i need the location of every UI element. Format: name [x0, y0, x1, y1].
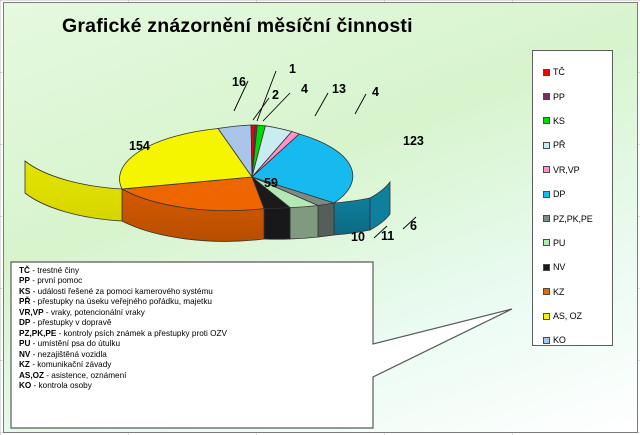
description-code: KS — [19, 287, 30, 296]
legend-item-as-oz[interactable]: AS, OZ — [543, 304, 612, 328]
pie-data-label-pu: 11 — [381, 230, 394, 243]
pie-data-label-ks: 4 — [301, 83, 308, 96]
description-line: DP - přestupky v dopravě — [19, 318, 349, 328]
pie-data-label-kz: 59 — [264, 177, 278, 190]
description-code: VR,VP — [19, 308, 44, 317]
pie-data-label-ko: 16 — [232, 76, 246, 89]
legend-item-label: PŘ — [553, 140, 565, 150]
legend-item-pz-pk-pe[interactable]: PZ,PK,PE — [543, 206, 612, 230]
legend-item-label: PZ,PK,PE — [553, 214, 593, 224]
legend-item-label: PP — [553, 92, 565, 102]
description-line: NV - nezajištěná vozidla — [19, 350, 349, 360]
description-text: - asistence, oznámení — [44, 371, 126, 380]
legend-swatch-icon — [543, 264, 550, 271]
leader-pr — [315, 93, 328, 116]
pie-data-label-tc: 2 — [272, 89, 279, 102]
legend-item-label: AS, OZ — [553, 311, 582, 321]
description-text: - události řešené za pomoci kamerového s… — [30, 287, 212, 296]
pie-data-label-pr: 13 — [332, 83, 346, 96]
pie-chart[interactable]: 16 2 1 4 13 4 123 6 11 10 59 154 — [12, 51, 482, 266]
pie-data-label-dp: 123 — [403, 135, 424, 148]
pie-side-nv — [264, 207, 290, 239]
description-code: TČ — [19, 266, 30, 275]
legend-item-vr-vp[interactable]: VR,VP — [543, 158, 612, 182]
pie-side-dp2 — [370, 182, 390, 230]
legend-item-kz[interactable]: KZ — [543, 280, 612, 304]
legend-swatch-icon — [543, 166, 550, 173]
description-text: - přestupky v dopravě — [30, 318, 111, 327]
legend-swatch-icon — [543, 288, 550, 295]
description-callout[interactable]: TČ - trestné činyPP - první pomocKS - ud… — [10, 261, 514, 429]
leader-vrvp — [355, 94, 366, 114]
legend-item-pp[interactable]: PP — [543, 84, 612, 108]
legend-item-label: NV — [553, 262, 565, 272]
description-text: - přestupky na úseku veřejného pořádku, … — [30, 297, 212, 306]
description-text: - první pomoc — [30, 276, 82, 285]
pie-data-label-pzpkpe: 6 — [410, 220, 417, 233]
chart-legend[interactable]: TČPPKSPŘVR,VPDPPZ,PK,PEPUNVKZAS, OZKO — [532, 50, 613, 346]
legend-item-label: TČ — [553, 67, 565, 77]
description-text: - kontrola osoby — [31, 381, 92, 390]
legend-item-label: PU — [553, 238, 565, 248]
legend-swatch-icon — [543, 69, 550, 76]
pie-data-label-vrvp: 4 — [372, 86, 379, 99]
description-line: PŘ - přestupky na úseku veřejného pořádk… — [19, 297, 349, 307]
legend-item-pu[interactable]: PU — [543, 231, 612, 255]
chart-title: Grafické znázornění měsíční činnosti — [62, 15, 482, 38]
description-code: KZ — [19, 360, 30, 369]
description-text: - umístění psa do útulku — [30, 339, 120, 348]
legend-item-t[interactable]: TČ — [543, 60, 612, 84]
description-code: PU — [19, 339, 30, 348]
legend-item-dp[interactable]: DP — [543, 182, 612, 206]
legend-swatch-icon — [543, 337, 550, 344]
description-line: KS - události řešené za pomoci kamerovéh… — [19, 287, 349, 297]
pie-data-label-pp: 1 — [289, 63, 296, 76]
legend-swatch-icon — [543, 93, 550, 100]
description-line: PU - umístění psa do útulku — [19, 339, 349, 349]
description-line: PZ,PK,PE - kontroly psích známek a přest… — [19, 329, 349, 339]
description-text: - trestné činy — [30, 266, 79, 275]
description-text: - kontroly psích známek a přestupky prot… — [56, 329, 227, 338]
pie-side-pu — [290, 205, 318, 239]
description-line: PP - první pomoc — [19, 276, 349, 286]
legend-swatch-icon — [543, 313, 550, 320]
legend-swatch-icon — [543, 117, 550, 124]
description-code: NV — [19, 350, 30, 359]
description-code: PZ,PK,PE — [19, 329, 56, 338]
description-text: - vraky, potencionální vraky — [44, 308, 145, 317]
description-line: TČ - trestné činy — [19, 266, 349, 276]
pie-data-label-asoz: 154 — [129, 140, 150, 153]
legend-swatch-icon — [543, 142, 550, 149]
chart-object[interactable]: Grafické znázornění měsíční činnosti — [3, 2, 638, 433]
legend-item-label: KS — [553, 116, 565, 126]
screenshot-canvas: Grafické znázornění měsíční činnosti — [0, 0, 640, 435]
legend-item-label: KO — [553, 335, 566, 345]
legend-item-p[interactable]: PŘ — [543, 133, 612, 157]
legend-item-label: KZ — [553, 287, 564, 297]
legend-item-label: DP — [553, 189, 565, 199]
description-text: - nezajištěná vozidla — [30, 350, 106, 359]
legend-item-label: VR,VP — [553, 165, 580, 175]
description-line: KZ - komunikační závady — [19, 360, 349, 370]
legend-swatch-icon — [543, 239, 550, 246]
legend-item-ko[interactable]: KO — [543, 328, 612, 352]
description-code: PP — [19, 276, 30, 285]
pie-side-pzpkpe — [318, 203, 334, 237]
description-code: KO — [19, 381, 31, 390]
description-line: VR,VP - vraky, potencionální vraky — [19, 308, 349, 318]
description-code: AS,OZ — [19, 371, 44, 380]
legend-item-ks[interactable]: KS — [543, 109, 612, 133]
description-text: - komunikační závady — [30, 360, 111, 369]
description-line: KO - kontrola osoby — [19, 381, 349, 391]
pie-data-label-nv: 10 — [351, 231, 365, 244]
legend-item-nv[interactable]: NV — [543, 255, 612, 279]
description-code: PŘ — [19, 297, 30, 306]
legend-swatch-icon — [543, 215, 550, 222]
description-list: TČ - trestné činyPP - první pomocKS - ud… — [19, 266, 349, 391]
pie-side-asoz — [25, 161, 122, 221]
legend-swatch-icon — [543, 191, 550, 198]
pie-chart-svg — [12, 51, 482, 266]
description-code: DP — [19, 318, 30, 327]
description-line: AS,OZ - asistence, oznámení — [19, 371, 349, 381]
